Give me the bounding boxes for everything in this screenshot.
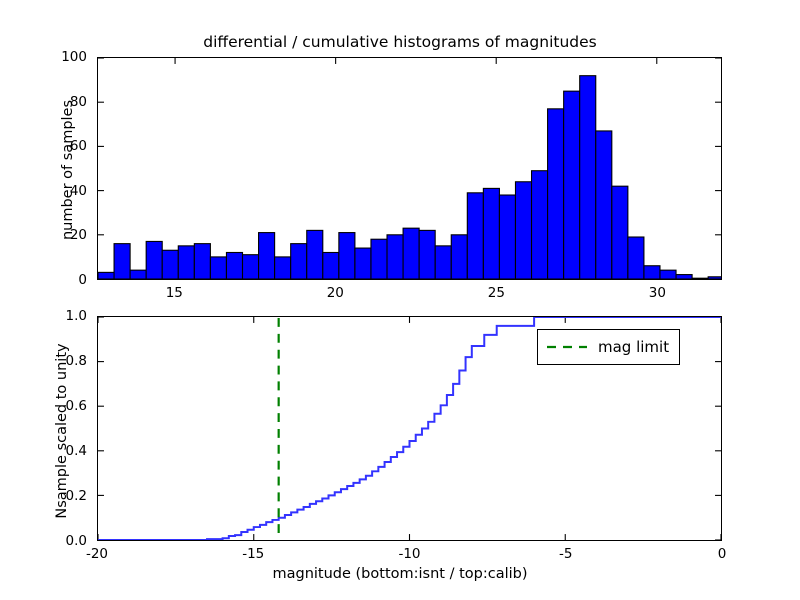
histogram-bar	[355, 248, 371, 279]
top-xtick-15: 15	[154, 285, 194, 301]
bottom-xtick-minus5: -5	[543, 546, 589, 562]
histogram-bar	[307, 230, 323, 279]
histogram-bar	[515, 182, 531, 279]
histogram-bar	[178, 246, 194, 279]
histogram-bar	[98, 272, 114, 279]
histogram-bar	[323, 252, 339, 279]
bottom-ytick-0.8: 0.8	[37, 353, 87, 369]
histogram-bar	[548, 109, 564, 279]
histogram-bar	[403, 228, 419, 279]
bottom-panel-ylabel: Nsample scaled to unity	[54, 310, 70, 552]
bottom-ytick-0.6: 0.6	[37, 398, 87, 414]
top-panel-ylabel: number of samples	[60, 55, 76, 285]
histogram-bar	[114, 244, 130, 279]
bottom-ytick-0.2: 0.2	[37, 488, 87, 504]
histogram-bar	[692, 278, 708, 279]
top-xtick-30: 30	[637, 285, 677, 301]
page-title: differential / cumulative histograms of …	[0, 33, 800, 51]
histogram-bar	[339, 233, 355, 279]
legend-box: mag limit	[537, 329, 680, 365]
histogram-bar	[226, 252, 242, 279]
differential-histogram-plot	[97, 57, 722, 280]
histogram-bar	[243, 255, 259, 279]
histogram-bar	[419, 230, 435, 279]
histogram-bar	[210, 257, 226, 279]
histogram-bar	[291, 244, 307, 279]
bottom-xtick-minus15: -15	[230, 546, 276, 562]
histogram-bar	[194, 244, 210, 279]
top-ytick-40: 40	[37, 183, 87, 199]
histogram-bar	[644, 266, 660, 279]
dashed-line-swatch-icon	[546, 340, 588, 354]
top-ytick-60: 60	[37, 138, 87, 154]
histogram-bar	[580, 76, 596, 279]
histogram-bar	[259, 233, 275, 279]
histogram-bar	[676, 275, 692, 279]
top-xtick-20: 20	[315, 285, 355, 301]
bottom-xtick-minus10: -10	[387, 546, 433, 562]
histogram-bar	[146, 241, 162, 279]
top-ytick-0: 0	[37, 272, 87, 288]
histogram-bar	[435, 246, 451, 279]
histogram-bar	[130, 270, 146, 279]
histogram-bar	[499, 195, 515, 279]
histogram-bar	[451, 235, 467, 279]
histogram-bar	[483, 188, 499, 279]
histogram-bar	[467, 193, 483, 279]
histogram-bar	[660, 270, 676, 279]
figure-canvas: differential / cumulative histograms of …	[0, 0, 800, 600]
top-ytick-100: 100	[37, 49, 87, 65]
legend-label-mag-limit: mag limit	[598, 338, 669, 356]
histogram-bar	[371, 239, 387, 279]
histogram-bar	[708, 277, 721, 279]
top-xtick-25: 25	[476, 285, 516, 301]
histogram-bar	[596, 131, 612, 279]
top-ytick-20: 20	[37, 227, 87, 243]
histogram-bar	[387, 235, 403, 279]
histogram-bar	[612, 186, 628, 279]
bottom-ytick-1.0: 1.0	[37, 308, 87, 324]
histogram-bar	[162, 250, 178, 279]
histogram-bar	[628, 237, 644, 279]
bottom-xtick-0: 0	[699, 546, 745, 562]
histogram-bar	[532, 171, 548, 279]
histogram-bar	[564, 91, 580, 279]
histogram-bar	[275, 257, 291, 279]
bottom-xtick-minus20: -20	[74, 546, 120, 562]
bottom-ytick-0.4: 0.4	[37, 443, 87, 459]
histogram-svg	[98, 58, 721, 279]
shared-xlabel: magnitude (bottom:isnt / top:calib)	[0, 566, 800, 582]
top-ytick-80: 80	[37, 94, 87, 110]
